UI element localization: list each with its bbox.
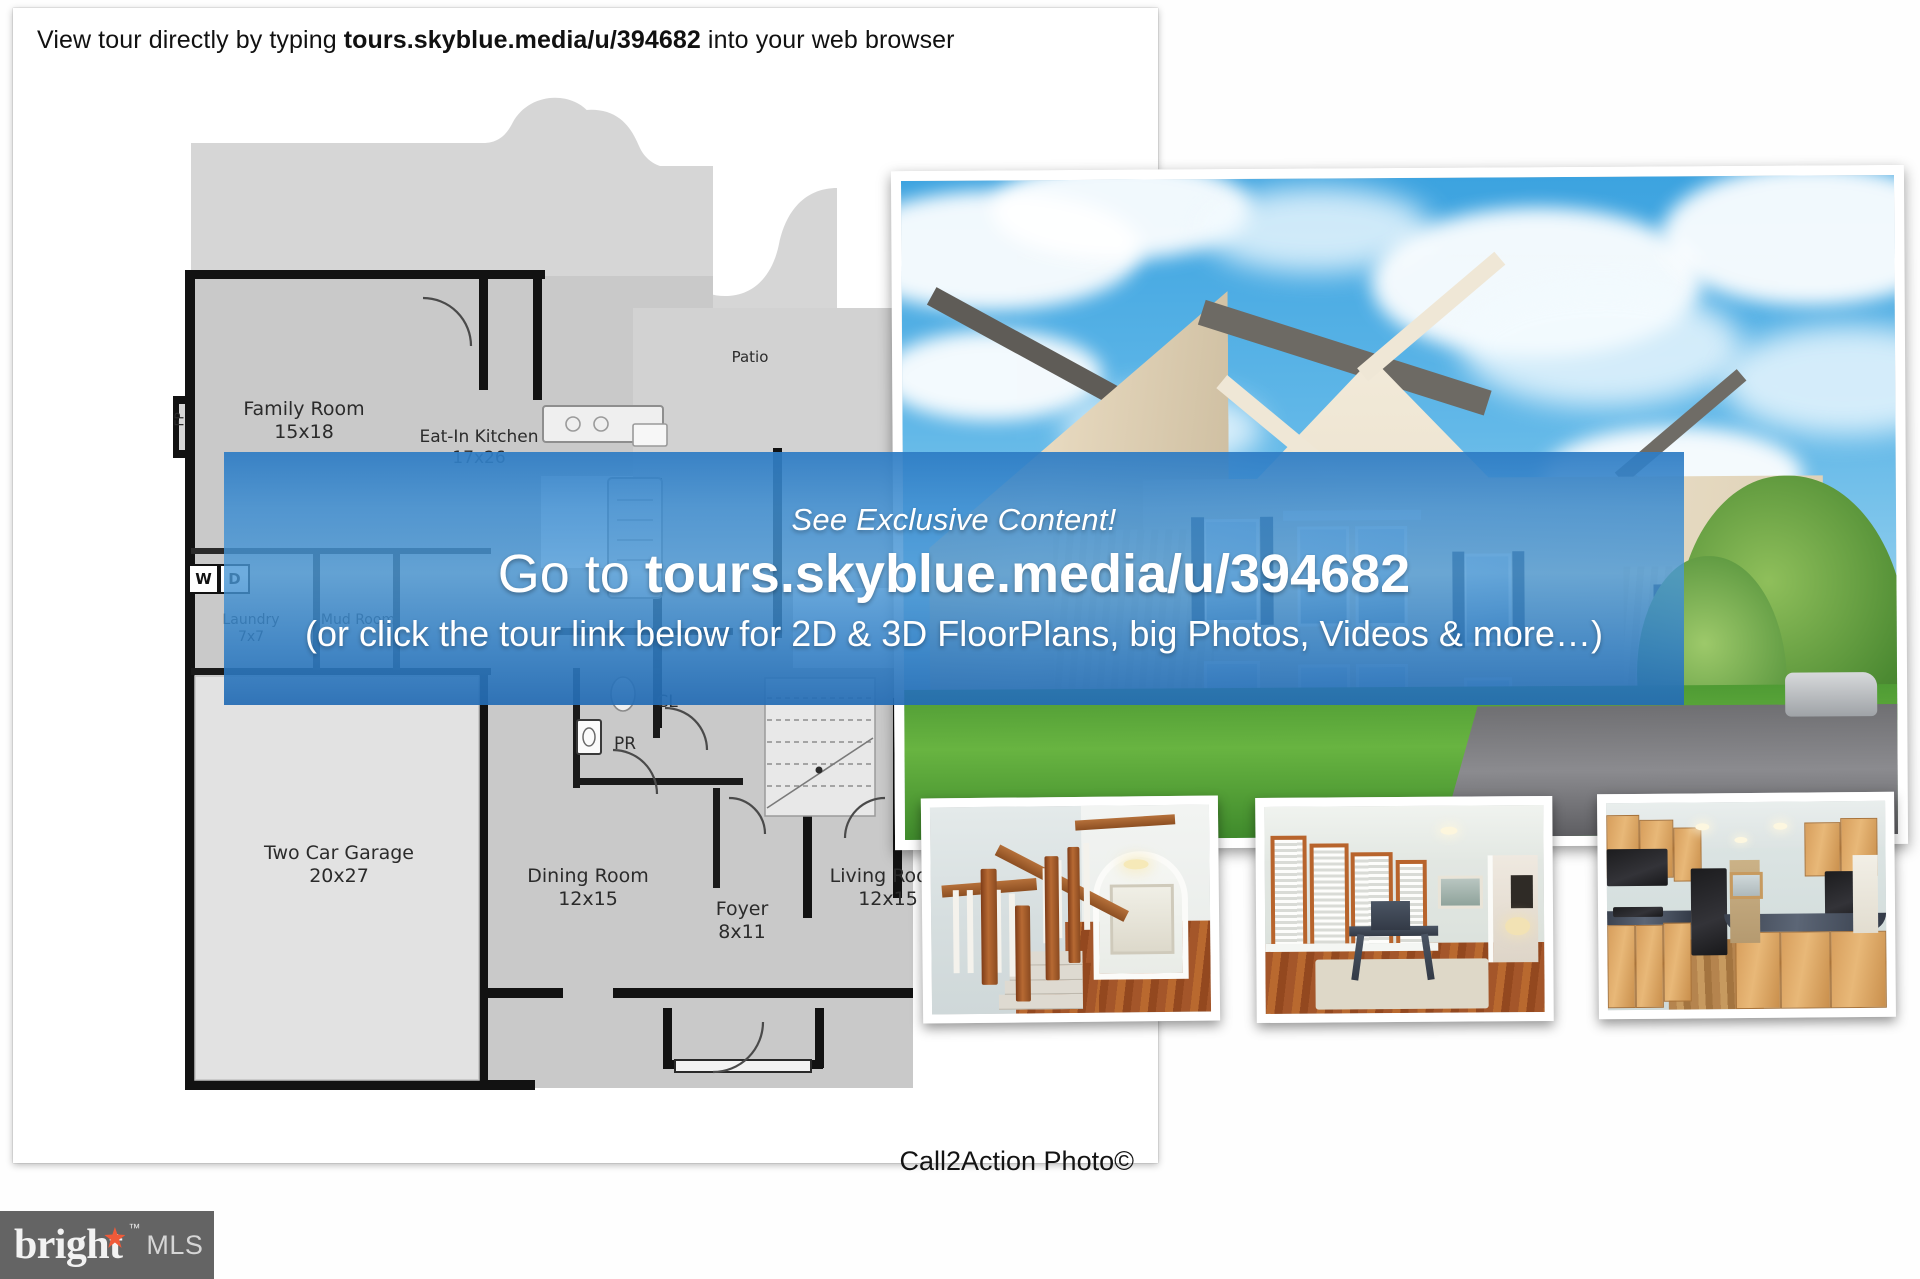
fp-room-foyer: Foyer8x11 (716, 898, 769, 944)
trademark-symbol: ™ (128, 1222, 140, 1234)
thumbnail-kitchen-granite[interactable] (1597, 792, 1896, 1020)
cta-subline: (or click the tour link below for 2D & 3… (305, 613, 1603, 655)
fp-room-powder-room: PR (614, 734, 636, 755)
cta-tour-url[interactable]: tours.skyblue.media/u/394682 (645, 544, 1410, 604)
photo-credit: Call2Action Photo© (899, 1146, 1134, 1177)
fp-room-dining-room: Dining Room12x15 (527, 865, 648, 911)
thumbnail-office-bay-window[interactable] (1255, 796, 1554, 1023)
logo-brand-text: bright ™ (14, 1224, 122, 1266)
thumbnail-staircase-foyer[interactable] (921, 795, 1220, 1023)
parked-car (1785, 672, 1877, 717)
fp-fireplace-label: FP (173, 412, 188, 426)
fp-room-family-room: Family Room15x18 (243, 398, 364, 444)
fp-appliance-washer: W (188, 564, 219, 594)
fp-room-two-car-garage: Two Car Garage20x27 (264, 842, 414, 888)
fp-room-patio: Patio (732, 348, 769, 366)
cta-tagline: See Exclusive Content! (792, 502, 1117, 538)
call-to-action-banner[interactable]: See Exclusive Content! Go to tours.skybl… (224, 452, 1684, 705)
cta-goto-line: Go to tours.skyblue.media/u/394682 (498, 546, 1410, 603)
bright-mls-logo: bright ™ MLS (0, 1211, 214, 1279)
logo-mls-text: MLS (146, 1230, 203, 1261)
flyer-canvas: View tour directly by typing tours.skybl… (0, 0, 1920, 1279)
cta-goto-prefix: Go to (498, 544, 645, 604)
